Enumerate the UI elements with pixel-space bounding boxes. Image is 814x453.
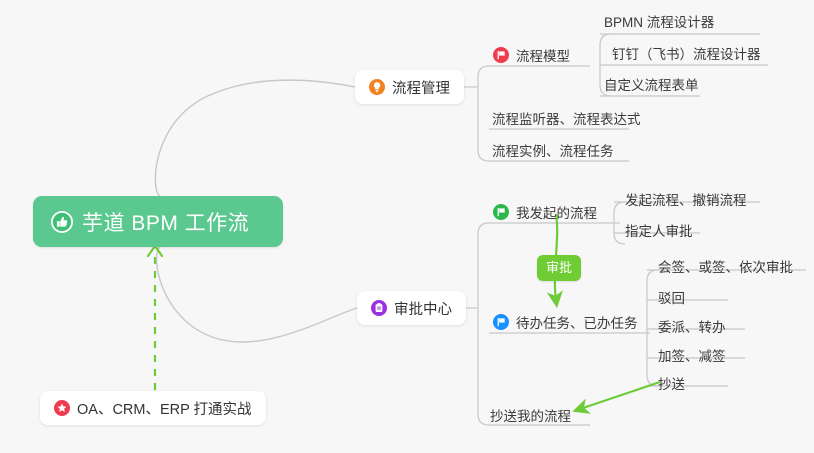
trunk-wofaqi — [614, 202, 625, 244]
trunk-liuchengguanli — [478, 66, 489, 161]
leaf-custom-form[interactable]: 自定义流程表单 — [604, 74, 699, 97]
annotation-shenpi-tag: 审批 — [537, 255, 581, 281]
leaf-dingtalk-designer[interactable]: 钉钉（飞书）流程设计器 — [612, 43, 761, 66]
flag-icon — [493, 47, 509, 63]
leaf-jiaqian-jianqian[interactable]: 加签、减签 — [658, 345, 726, 368]
leaf-liucheng-jiantingqi[interactable]: 流程监听器、流程表达式 — [492, 108, 641, 131]
node-oa-label: OA、CRM、ERP 打通实战 — [77, 398, 252, 419]
node-daibanrenwu[interactable]: 待办任务、已办任务 — [493, 311, 638, 333]
mindmap-canvas: 芋道 BPM 工作流 流程管理 审批中心 — [0, 0, 814, 453]
node-wofaqideliucheng[interactable]: 我发起的流程 — [493, 201, 597, 223]
node-wofaqideliucheng-label: 我发起的流程 — [516, 202, 597, 222]
node-daibanrenwu-label: 待办任务、已办任务 — [516, 312, 638, 332]
node-liuchengmoxing[interactable]: 流程模型 — [493, 44, 570, 66]
leaf-liucheng-shili[interactable]: 流程实例、流程任务 — [492, 140, 614, 163]
flag-icon — [493, 314, 509, 330]
leaf-bpmn-designer[interactable]: BPMN 流程设计器 — [604, 11, 714, 34]
leaf-bohui[interactable]: 驳回 — [658, 287, 685, 310]
leaf-chaosong-wodeliucheng[interactable]: 抄送我的流程 — [490, 405, 571, 428]
trunk-shenpizhongxin — [478, 223, 489, 425]
node-liuchengguanli-label: 流程管理 — [392, 77, 450, 98]
leaf-huiqian-huoqian[interactable]: 会签、或签、依次审批 — [658, 256, 793, 279]
leaf-faqi-chexiao[interactable]: 发起流程、撤销流程 — [625, 189, 747, 212]
star-icon — [54, 400, 70, 416]
trunk-daiban — [647, 270, 658, 386]
node-shenpizhongxin-label: 审批中心 — [394, 298, 452, 319]
thumbs-up-icon — [51, 211, 73, 233]
lightbulb-icon — [369, 79, 385, 95]
link-root-to-shenpizhongxin — [157, 247, 357, 342]
node-liuchengmoxing-label: 流程模型 — [516, 45, 570, 65]
root-label: 芋道 BPM 工作流 — [82, 207, 249, 237]
link-root-to-liuchengguanli — [155, 80, 355, 196]
leaf-weipai-zhuanban[interactable]: 委派、转办 — [658, 316, 726, 339]
node-shenpizhongxin[interactable]: 审批中心 — [357, 291, 466, 325]
root-node[interactable]: 芋道 BPM 工作流 — [33, 196, 283, 247]
leaf-zhidingren-shenpi[interactable]: 指定人审批 — [625, 220, 693, 243]
arrow-chaosong — [580, 382, 660, 409]
flag-icon — [493, 204, 509, 220]
leaf-chaosong[interactable]: 抄送 — [658, 373, 685, 396]
clipboard-icon — [371, 300, 387, 316]
node-oa-crm-erp[interactable]: OA、CRM、ERP 打通实战 — [40, 391, 266, 425]
arrow-oa-head — [148, 246, 162, 256]
node-liuchengguanli[interactable]: 流程管理 — [355, 70, 464, 104]
